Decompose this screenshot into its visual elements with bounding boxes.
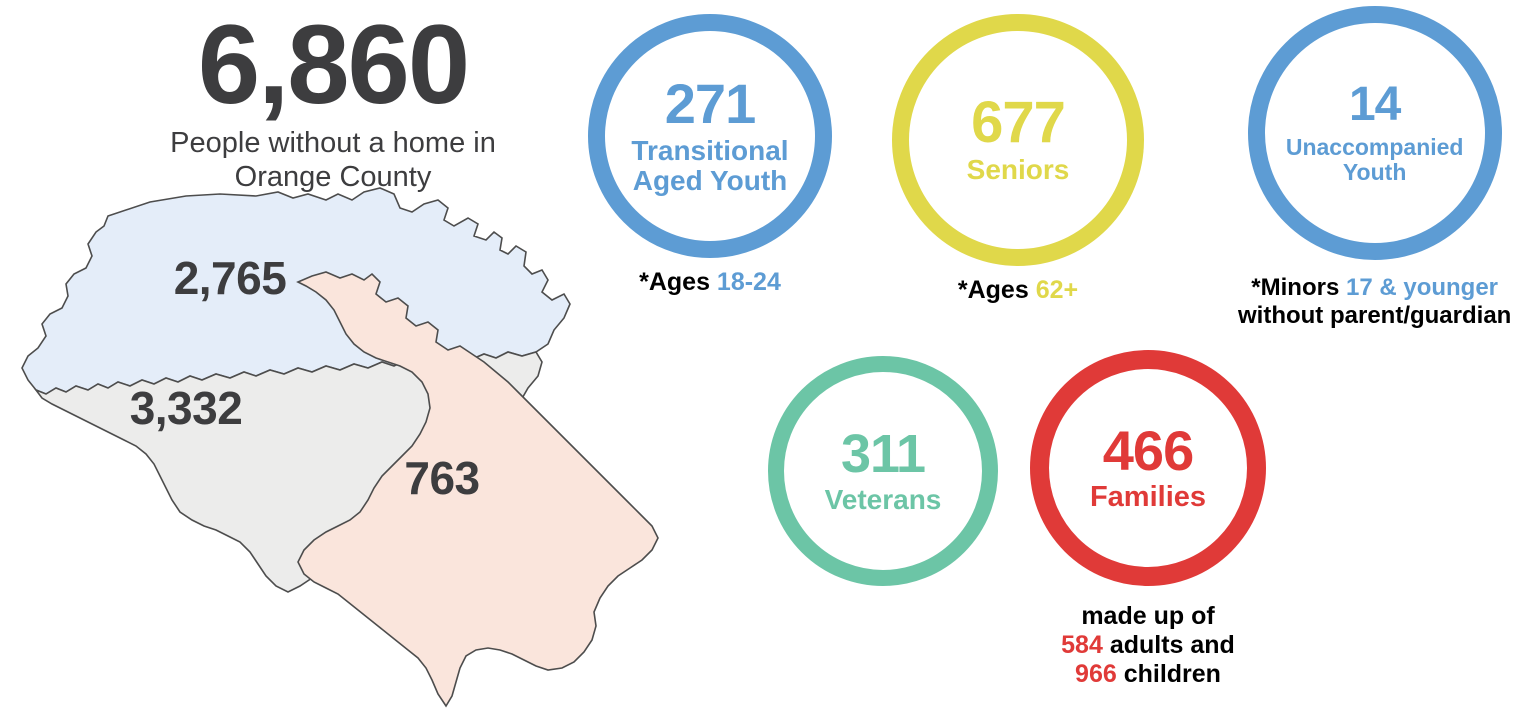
map-label-south: 763 — [404, 452, 479, 504]
tay-note: *Ages 18-24 — [639, 268, 781, 297]
headline-block: 6,860 People without a home in Orange Co… — [118, 8, 548, 195]
headline-caption-line-1: People without a home in — [118, 126, 548, 160]
veterans-label: Veterans — [825, 485, 942, 515]
families-adults-text: adults and — [1103, 631, 1235, 659]
stat-veterans[interactable]: 311 Veterans — [768, 356, 998, 586]
seniors-note-prefix: *Ages — [958, 276, 1036, 304]
veterans-count: 311 — [841, 427, 925, 481]
ring-transitional-aged-youth[interactable]: 271 Transitional Aged Youth — [588, 14, 832, 258]
families-note-line-2: 584 adults and — [1061, 631, 1235, 660]
unaccompanied-youth-label-line-1: Unaccompanied — [1286, 135, 1464, 160]
infographic-canvas: 6,860 People without a home in Orange Co… — [0, 0, 1532, 712]
unaccompanied-youth-note: *Minors 17 & younger without parent/guar… — [1238, 274, 1511, 329]
map-label-north: 2,765 — [174, 252, 287, 304]
tay-label-line-2: Aged Youth — [631, 166, 788, 196]
families-count: 466 — [1103, 423, 1193, 479]
tay-label-line-1: Transitional — [631, 136, 788, 166]
unaccompanied-youth-label-line-2: Youth — [1286, 160, 1464, 185]
families-label: Families — [1090, 482, 1206, 513]
ring-families[interactable]: 466 Families — [1030, 350, 1266, 586]
seniors-note-highlight: 62+ — [1036, 276, 1078, 304]
families-note: made up of 584 adults and 966 children — [1061, 602, 1235, 689]
map-label-central: 3,332 — [130, 382, 243, 434]
families-children-text: children — [1117, 660, 1221, 688]
total-count: 6,860 — [118, 8, 548, 122]
tay-note-highlight: 18-24 — [717, 268, 781, 296]
stat-unaccompanied-youth[interactable]: 14 Unaccompanied Youth *Minors 17 & youn… — [1238, 6, 1511, 329]
stat-seniors[interactable]: 677 Seniors *Ages 62+ — [892, 14, 1144, 305]
seniors-label: Seniors — [967, 155, 1070, 185]
stat-families[interactable]: 466 Families made up of 584 adults and 9… — [1030, 350, 1266, 689]
ring-unaccompanied-youth[interactable]: 14 Unaccompanied Youth — [1248, 6, 1502, 260]
unaccompanied-youth-label: Unaccompanied Youth — [1286, 135, 1464, 185]
unaccompanied-youth-note-line-2: without parent/guardian — [1238, 302, 1511, 330]
ring-veterans[interactable]: 311 Veterans — [768, 356, 998, 586]
seniors-count: 677 — [971, 94, 1065, 152]
families-note-line-3: 966 children — [1061, 660, 1235, 689]
families-note-line-1: made up of — [1061, 602, 1235, 631]
families-adults-value: 584 — [1061, 631, 1103, 659]
ring-seniors[interactable]: 677 Seniors — [892, 14, 1144, 266]
unaccompanied-youth-count: 14 — [1349, 81, 1400, 129]
unaccompanied-youth-note-prefix: *Minors — [1251, 274, 1346, 301]
stat-transitional-aged-youth[interactable]: 271 Transitional Aged Youth *Ages 18-24 — [588, 14, 832, 297]
unaccompanied-youth-note-highlight: 17 & younger — [1346, 274, 1498, 301]
tay-note-prefix: *Ages — [639, 268, 717, 296]
tay-label: Transitional Aged Youth — [631, 136, 788, 196]
families-children-value: 966 — [1075, 660, 1117, 688]
tay-count: 271 — [665, 76, 755, 132]
unaccompanied-youth-note-line-1: *Minors 17 & younger — [1238, 274, 1511, 302]
seniors-note: *Ages 62+ — [958, 276, 1078, 305]
